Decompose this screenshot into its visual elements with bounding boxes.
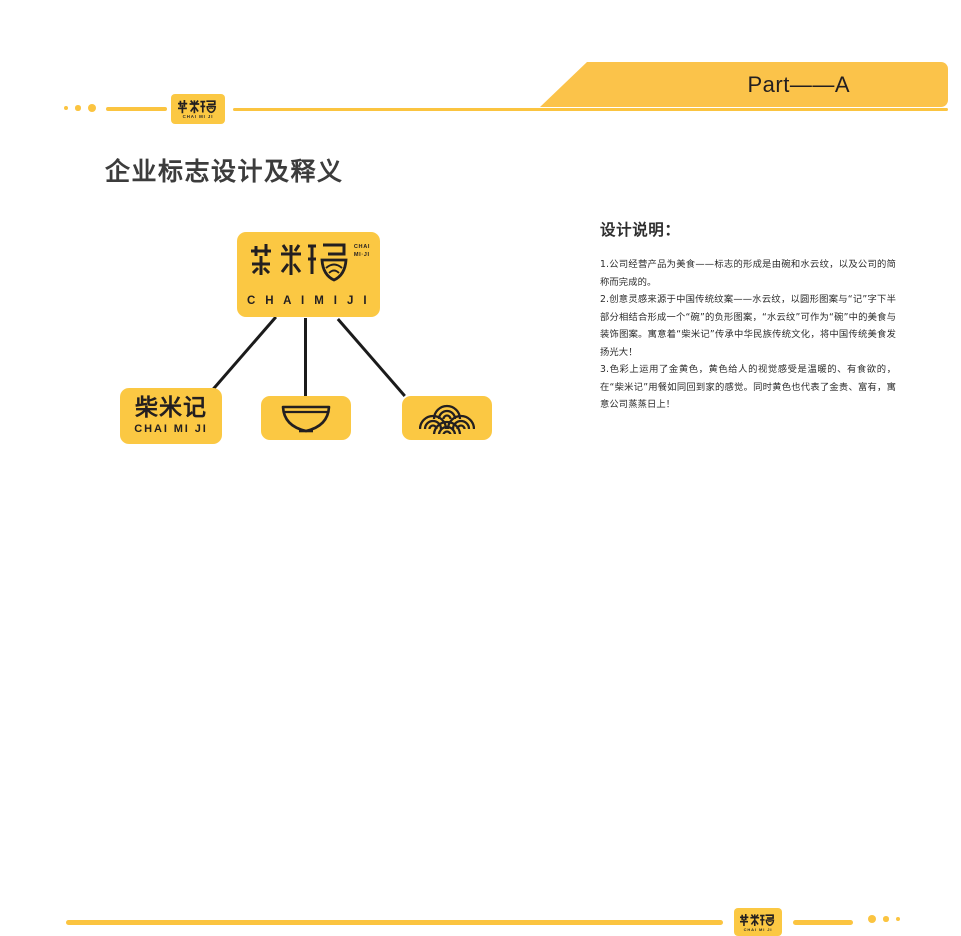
connector-line-center <box>304 318 307 396</box>
bowl-icon <box>280 402 332 434</box>
design-description-paragraph-3: 3.色彩上运用了金黄色，黄色给人的视觉感受是温暖的、有食欲的，在“柴米记”用餐如… <box>600 361 896 414</box>
water-cloud-pattern-icon <box>419 402 475 434</box>
footer-rule-short <box>793 920 853 925</box>
design-description-panel: 设计说明： 1.公司经营产品为美食——标志的形成是由碗和水云纹，以及公司的简称而… <box>600 218 896 414</box>
main-logo-latin: C H A I M I J I <box>237 295 380 307</box>
main-logo-tiny-pinyin-line2: MI·JI <box>354 252 370 260</box>
footer-logo-badge: CHAI MI JI <box>734 908 782 936</box>
leaf-card-wordmark: 柴米记 CHAI MI JI <box>120 388 222 444</box>
leaf-card-bowl <box>261 396 351 440</box>
footer-logo-pinyin: CHAI MI JI <box>744 928 773 932</box>
footer-rule-long <box>66 920 723 925</box>
main-logo-tiny-pinyin-line1: CHAI <box>354 244 370 252</box>
bowl-wave-icon <box>766 920 773 925</box>
part-banner-shape <box>540 62 948 107</box>
design-description-heading: 设计说明： <box>600 218 896 240</box>
main-logo-tiny-pinyin: CHAI MI·JI <box>354 244 370 259</box>
connector-line-left <box>210 316 277 392</box>
connector-line-right <box>337 318 406 397</box>
main-logo-card: CHAI MI·JI C H A I M I J I <box>237 232 380 317</box>
part-banner-label: Part——A <box>747 72 850 98</box>
bowl-water-cloud-icon <box>322 260 346 280</box>
part-banner: Part——A <box>540 62 948 107</box>
design-description-paragraph-1: 1.公司经营产品为美食——标志的形成是由碗和水云纹，以及公司的简称而完成的。 <box>600 256 896 291</box>
leaf-wordmark-chinese: 柴米记 <box>135 397 207 420</box>
main-logo-mark-wrap <box>251 241 351 288</box>
footer-dot-large <box>868 915 876 923</box>
footer-dot-medium <box>883 916 889 922</box>
chai-mi-ji-mark-icon <box>740 912 776 927</box>
leaf-wordmark-latin: CHAI MI JI <box>134 424 207 435</box>
leaf-card-water-cloud <box>402 396 492 440</box>
footer-dot-group <box>868 915 900 923</box>
design-description-paragraph-2: 2.创意灵感来源于中国传统纹案——水云纹，以圆形图案与“记”字下半部分相结合形成… <box>600 291 896 361</box>
footer-band: CHAI MI JI <box>0 450 961 540</box>
chai-mi-ji-mark-icon <box>251 241 351 283</box>
footer-dot-small <box>896 917 900 921</box>
